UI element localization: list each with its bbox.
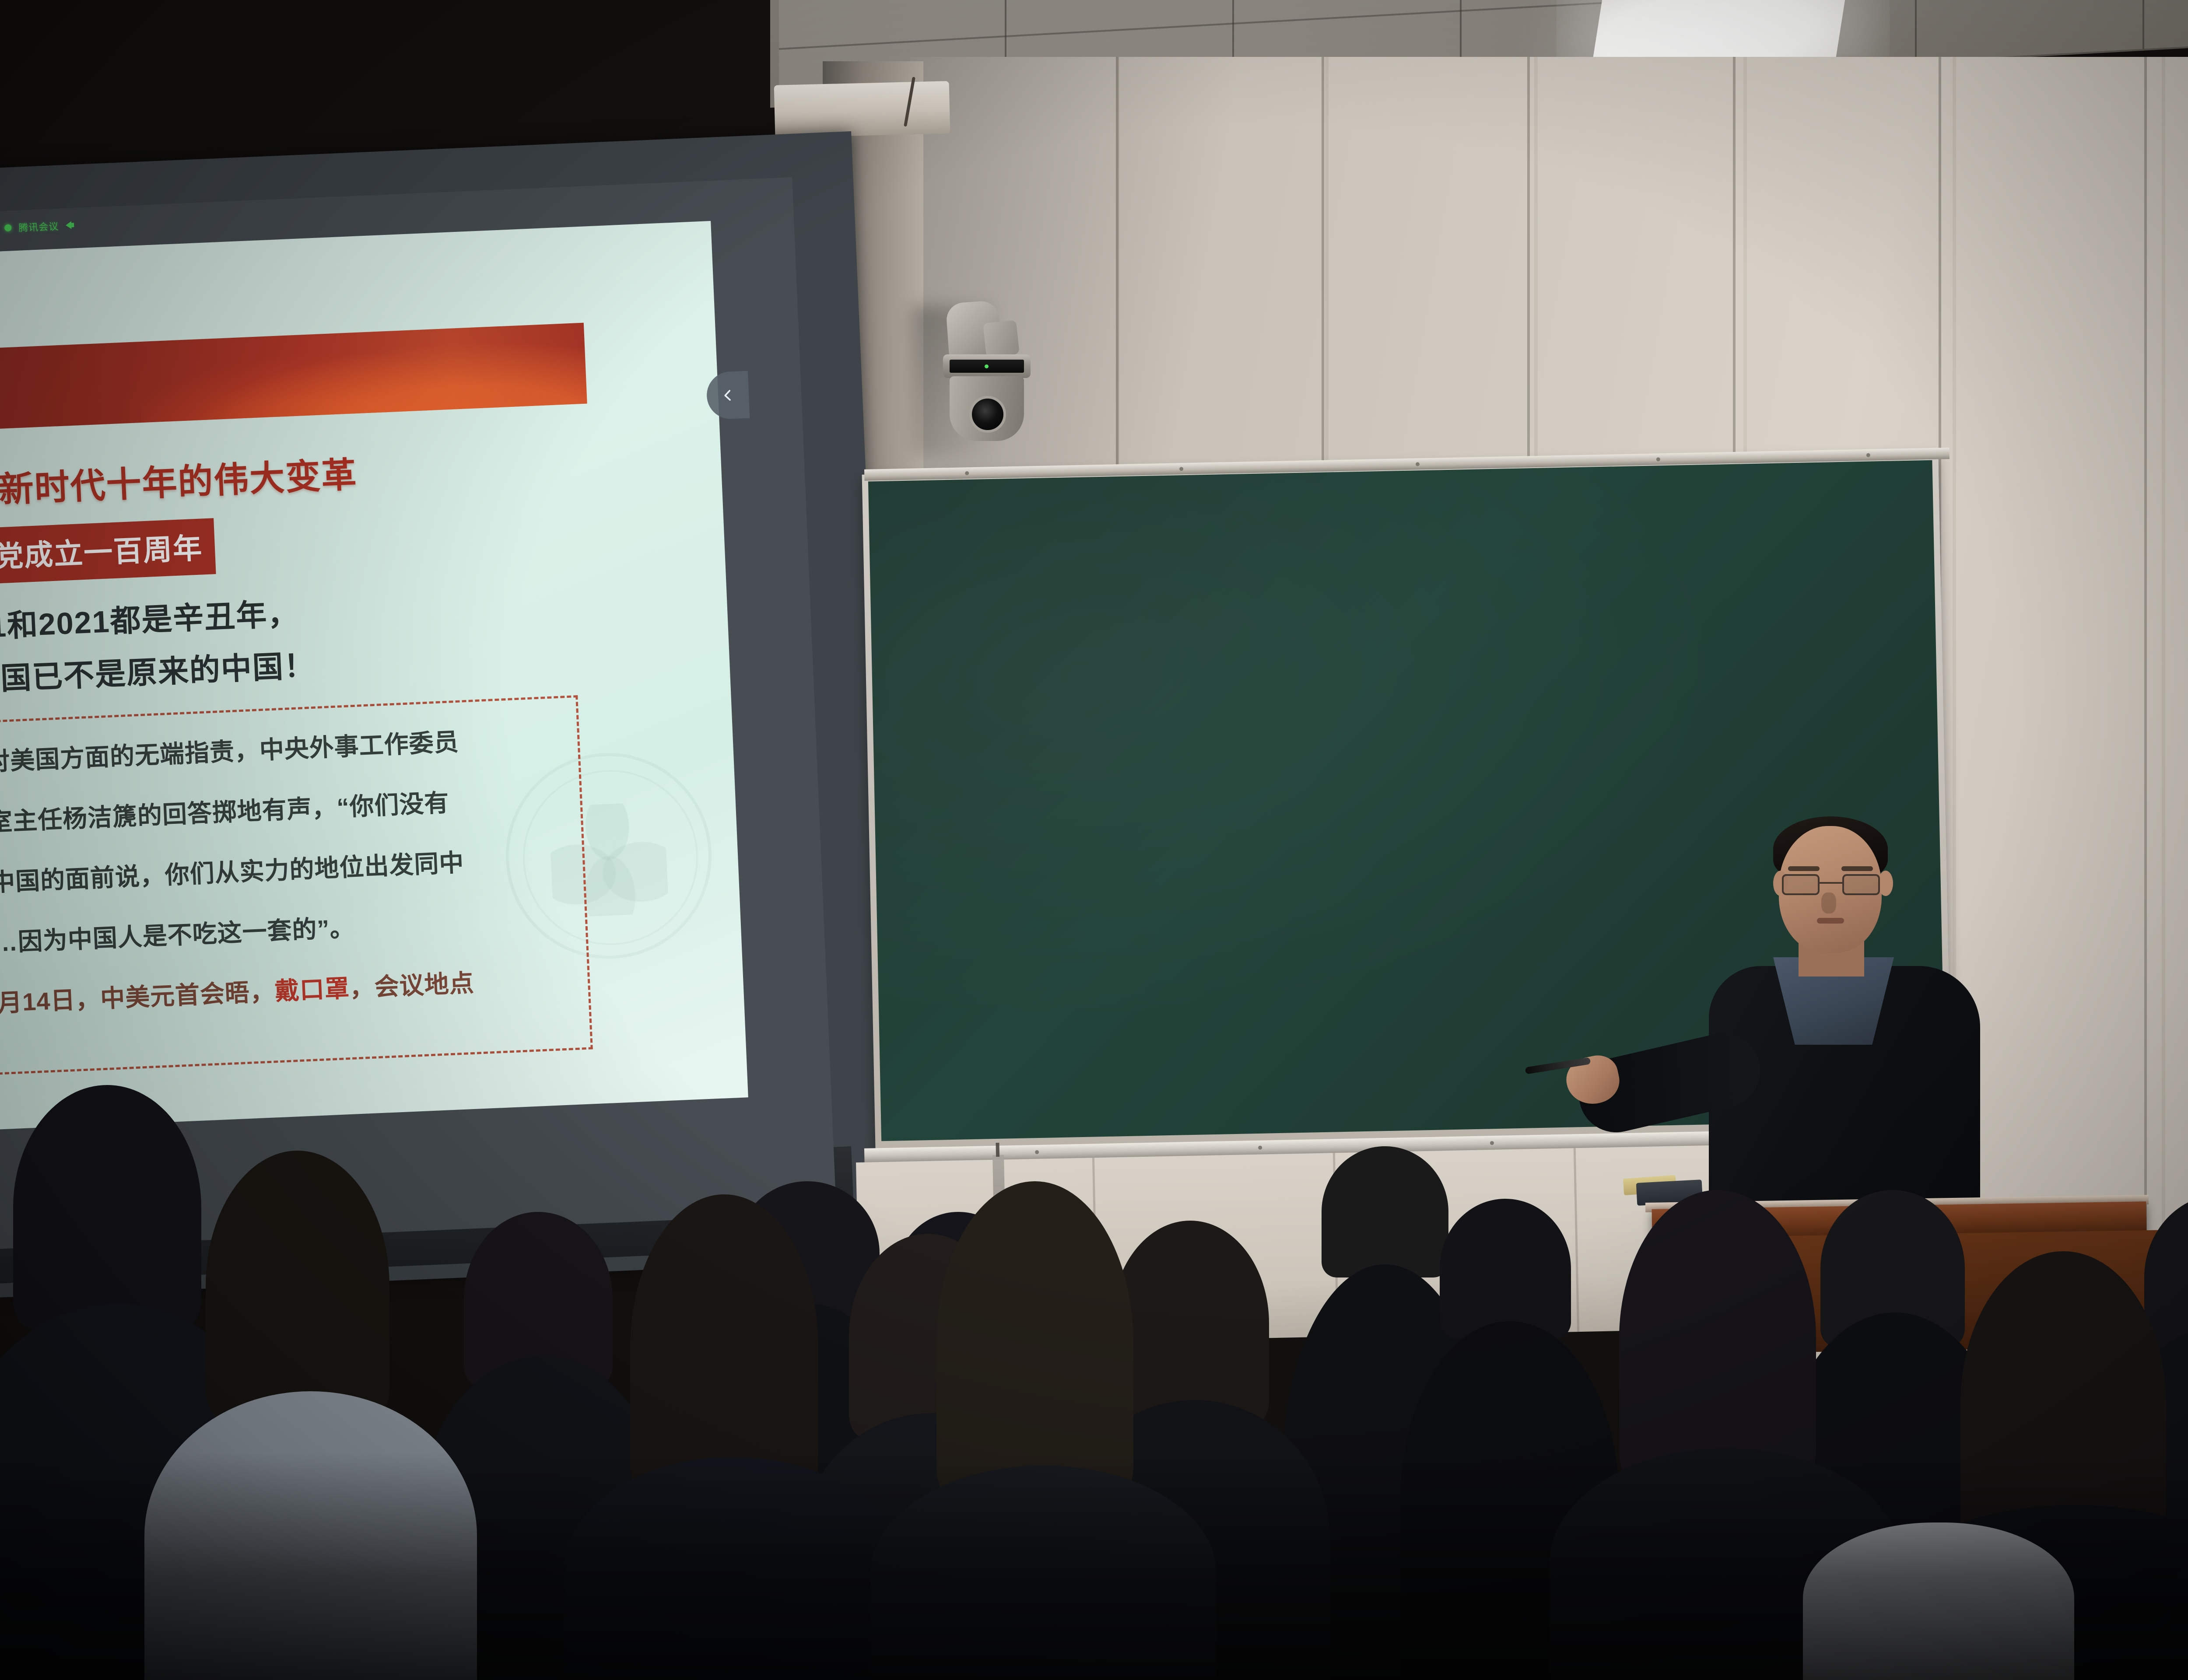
audience-body xyxy=(871,1466,1217,1680)
slide-red-tag-label: 中国共产党成立一百周年 xyxy=(0,532,203,578)
slide-big-line-1: 1901和2021都是辛丑年， xyxy=(0,589,300,648)
audience-head xyxy=(1112,1221,1269,1426)
camera-lens-icon xyxy=(969,396,1006,433)
eyeglasses-icon xyxy=(1782,874,1880,896)
audience-head xyxy=(1440,1199,1571,1339)
slide-big-line-2: 但中国已不是原来的中国！ xyxy=(0,641,316,701)
audience-head xyxy=(936,1181,1133,1505)
meeting-app-label: 腾讯会议 xyxy=(18,219,59,234)
classroom-photo: 腾讯会议 大创新 的工作和新时代十年的伟大变革 中国共产党成立一百周年 1901… xyxy=(0,0,2188,1680)
slide-red-heading: 的工作和新时代十年的伟大变革 xyxy=(0,446,358,518)
audience-head xyxy=(1619,1190,1816,1487)
slide-banner: 大创新 xyxy=(0,323,587,436)
audience-body xyxy=(565,1457,901,1680)
presentation-slide: 大创新 的工作和新时代十年的伟大变革 中国共产党成立一百周年 1901和2021… xyxy=(0,221,748,1134)
speaker-icon xyxy=(66,221,72,230)
audience-head xyxy=(630,1194,818,1501)
camera-arm xyxy=(983,320,1020,357)
projection-screen-case xyxy=(774,81,950,138)
slide-source-suffix: ，会议地点 xyxy=(349,969,474,1002)
slide-red-tag: 中国共产党成立一百周年 xyxy=(0,518,216,590)
audience-body xyxy=(1803,1522,2074,1680)
chevron-left-icon xyxy=(719,387,736,404)
audience-head xyxy=(1322,1146,1448,1277)
camera-ir-strip xyxy=(950,360,1024,373)
record-dot-icon xyxy=(4,224,12,231)
presenter-mouth xyxy=(1817,918,1844,924)
audience-head xyxy=(206,1151,389,1422)
camera-status-led xyxy=(985,364,989,368)
slide-source-highlight: 戴口罩 xyxy=(274,974,351,1005)
audience-head xyxy=(13,1085,201,1330)
audience-body xyxy=(144,1391,477,1680)
